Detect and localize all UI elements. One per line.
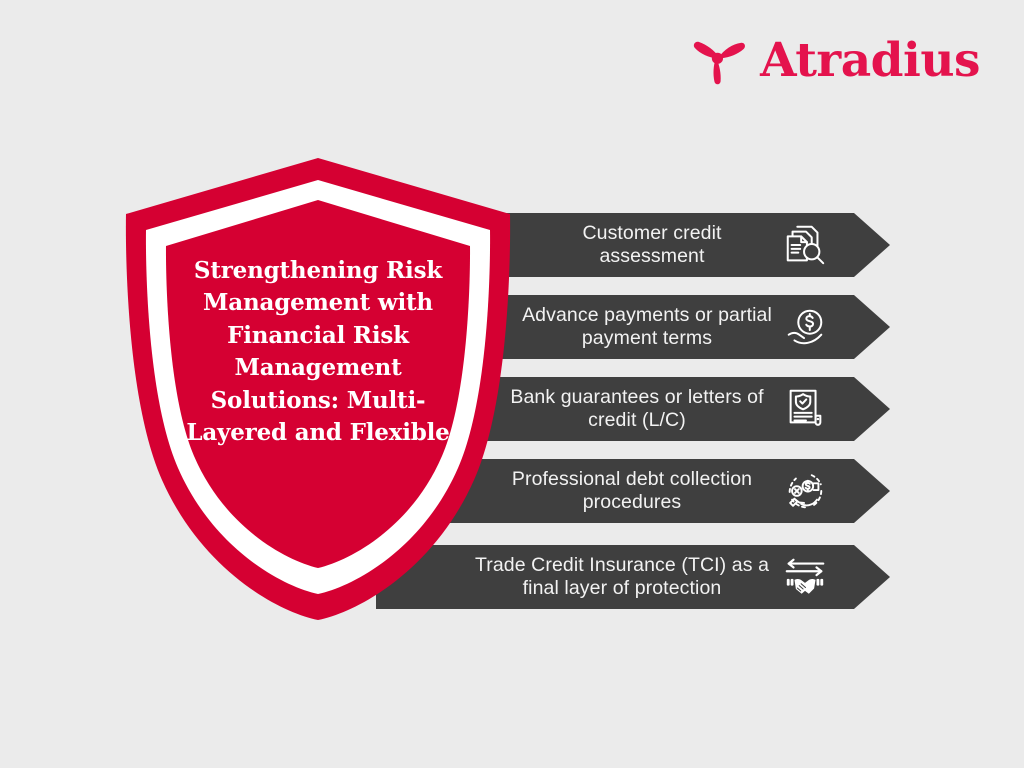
hand-holding-dollar-coin-icon [780, 302, 830, 352]
shield-graphic [118, 150, 518, 628]
brand-name: Atradius [760, 37, 980, 84]
atradius-triskelion-mark-icon [690, 32, 746, 88]
documents-magnifier-icon [780, 220, 830, 270]
handshake-arrows-icon [780, 552, 830, 602]
infographic-canvas: Atradius Customer credit assessment Adva… [0, 0, 1024, 768]
brand-logo: Atradius [690, 32, 980, 88]
hands-exchanging-coin-icon [780, 466, 830, 516]
certificate-shield-seal-icon [780, 384, 830, 434]
